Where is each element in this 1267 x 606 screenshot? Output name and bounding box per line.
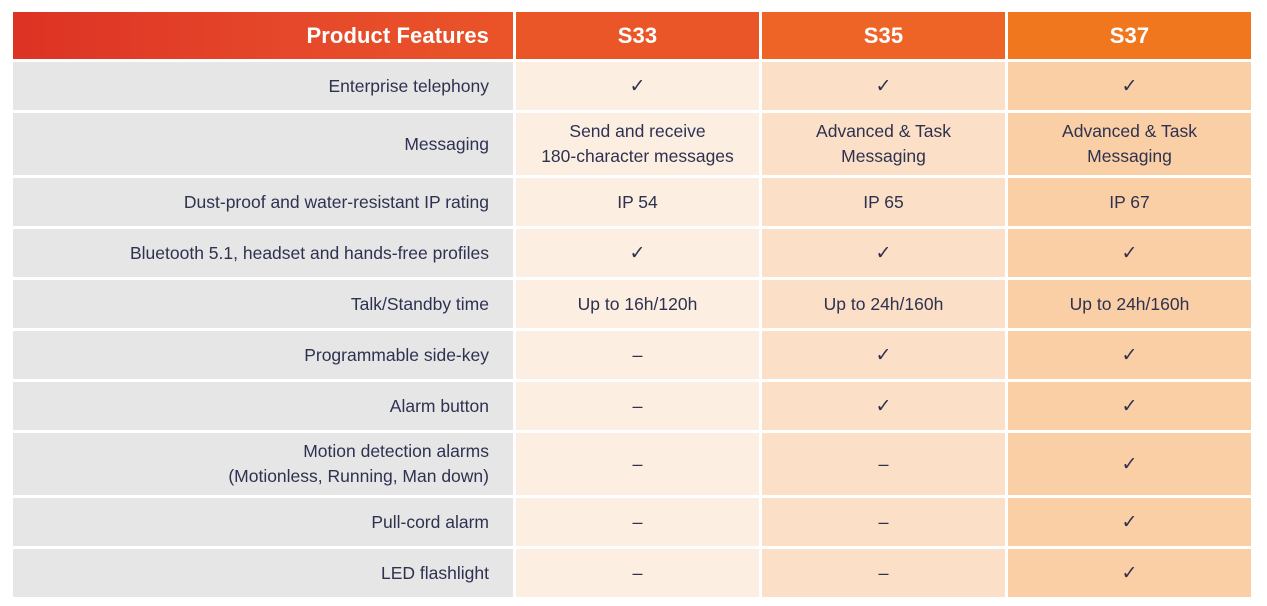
table-row: Dust-proof and water-resistant IP rating… xyxy=(13,178,1251,226)
check-icon-glyph: ✓ xyxy=(876,397,892,416)
table-row: Motion detection alarms (Motionless, Run… xyxy=(13,433,1251,495)
header-column-s35: S35 xyxy=(762,12,1005,59)
dash-icon-glyph: – xyxy=(878,455,888,473)
check-icon: ✓ xyxy=(762,62,1005,110)
check-icon-glyph: ✓ xyxy=(1122,244,1138,263)
feature-label-cell: Enterprise telephony xyxy=(13,62,513,110)
not-available-dash: – xyxy=(516,331,759,379)
not-available-dash: – xyxy=(762,549,1005,597)
feature-label-cell: Messaging xyxy=(13,113,513,175)
check-icon: ✓ xyxy=(516,62,759,110)
value-cell-s33: Up to 16h/120h xyxy=(516,280,759,328)
check-icon: ✓ xyxy=(1008,331,1251,379)
feature-label-cell: Dust-proof and water-resistant IP rating xyxy=(13,178,513,226)
feature-label-cell: Programmable side-key xyxy=(13,331,513,379)
check-icon: ✓ xyxy=(1008,498,1251,546)
check-icon: ✓ xyxy=(516,229,759,277)
check-icon: ✓ xyxy=(762,382,1005,430)
value-cell-s37: Up to 24h/160h xyxy=(1008,280,1251,328)
value-cell-s33: IP 54 xyxy=(516,178,759,226)
feature-label-cell: Pull-cord alarm xyxy=(13,498,513,546)
feature-label-cell: Alarm button xyxy=(13,382,513,430)
value-cell-s37: IP 67 xyxy=(1008,178,1251,226)
dash-icon-glyph: – xyxy=(878,513,888,531)
check-icon: ✓ xyxy=(1008,229,1251,277)
dash-icon-glyph: – xyxy=(632,455,642,473)
table-row: Alarm button–✓✓ xyxy=(13,382,1251,430)
value-cell-s35: IP 65 xyxy=(762,178,1005,226)
check-icon: ✓ xyxy=(1008,62,1251,110)
not-available-dash: – xyxy=(516,433,759,495)
header-column-s33: S33 xyxy=(516,12,759,59)
table-row: MessagingSend and receive 180-character … xyxy=(13,113,1251,175)
dash-icon-glyph: – xyxy=(632,564,642,582)
check-icon: ✓ xyxy=(762,229,1005,277)
dash-icon-glyph: – xyxy=(632,397,642,415)
check-icon-glyph: ✓ xyxy=(630,77,646,96)
feature-label-cell: LED flashlight xyxy=(13,549,513,597)
header-row: Product Features S33 S35 S37 xyxy=(13,12,1251,59)
feature-label-cell: Bluetooth 5.1, headset and hands-free pr… xyxy=(13,229,513,277)
table-row: Talk/Standby timeUp to 16h/120hUp to 24h… xyxy=(13,280,1251,328)
check-icon-glyph: ✓ xyxy=(1122,455,1138,474)
check-icon: ✓ xyxy=(1008,549,1251,597)
dash-icon-glyph: – xyxy=(632,346,642,364)
table-row: Enterprise telephony✓✓✓ xyxy=(13,62,1251,110)
check-icon-glyph: ✓ xyxy=(876,346,892,365)
check-icon-glyph: ✓ xyxy=(630,244,646,263)
check-icon-glyph: ✓ xyxy=(1122,77,1138,96)
dash-icon-glyph: – xyxy=(878,564,888,582)
table-body: Enterprise telephony✓✓✓MessagingSend and… xyxy=(13,62,1251,597)
check-icon-glyph: ✓ xyxy=(876,244,892,263)
check-icon: ✓ xyxy=(1008,382,1251,430)
check-icon-glyph: ✓ xyxy=(1122,513,1138,532)
value-cell-s35: Advanced & Task Messaging xyxy=(762,113,1005,175)
table-row: LED flashlight––✓ xyxy=(13,549,1251,597)
feature-label-cell: Motion detection alarms (Motionless, Run… xyxy=(13,433,513,495)
header-product-features: Product Features xyxy=(13,12,513,59)
check-icon-glyph: ✓ xyxy=(1122,397,1138,416)
table-row: Pull-cord alarm––✓ xyxy=(13,498,1251,546)
table-header: Product Features S33 S35 S37 xyxy=(13,12,1251,59)
table-row: Bluetooth 5.1, headset and hands-free pr… xyxy=(13,229,1251,277)
check-icon: ✓ xyxy=(1008,433,1251,495)
value-cell-s35: Up to 24h/160h xyxy=(762,280,1005,328)
not-available-dash: – xyxy=(762,498,1005,546)
check-icon-glyph: ✓ xyxy=(1122,564,1138,583)
dash-icon-glyph: – xyxy=(632,513,642,531)
not-available-dash: – xyxy=(516,549,759,597)
table-row: Programmable side-key–✓✓ xyxy=(13,331,1251,379)
header-column-s37: S37 xyxy=(1008,12,1251,59)
check-icon-glyph: ✓ xyxy=(876,77,892,96)
product-comparison-container: Product Features S33 S35 S37 Enterprise … xyxy=(0,0,1267,606)
product-feature-comparison-table: Product Features S33 S35 S37 Enterprise … xyxy=(10,9,1254,600)
value-cell-s37: Advanced & Task Messaging xyxy=(1008,113,1251,175)
value-cell-s33: Send and receive 180-character messages xyxy=(516,113,759,175)
feature-label-cell: Talk/Standby time xyxy=(13,280,513,328)
check-icon: ✓ xyxy=(762,331,1005,379)
not-available-dash: – xyxy=(762,433,1005,495)
check-icon-glyph: ✓ xyxy=(1122,346,1138,365)
not-available-dash: – xyxy=(516,382,759,430)
not-available-dash: – xyxy=(516,498,759,546)
